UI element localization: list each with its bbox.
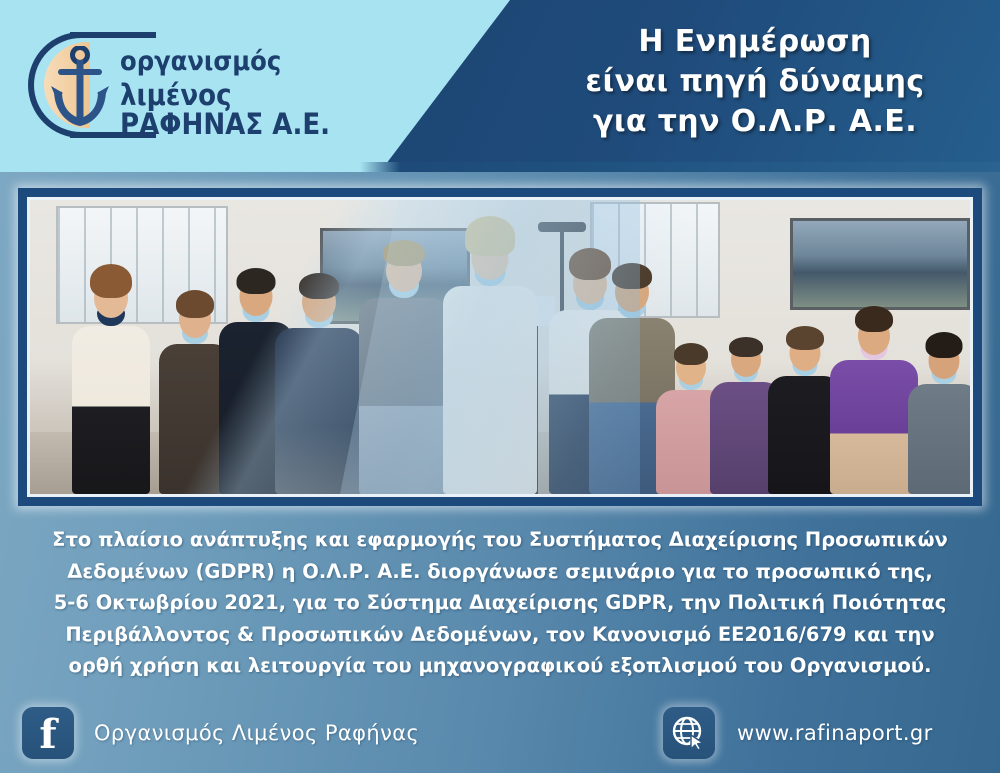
body-line-1: Στο πλαίσιο ανάπτυξης και εφαρμογής του … xyxy=(40,524,960,556)
photo-person xyxy=(906,326,970,494)
body-line-3: 5-6 Οκτωβρίου 2021, για το Σύστημα Διαχε… xyxy=(40,587,960,619)
photo-person xyxy=(440,204,540,494)
photo-person xyxy=(356,212,452,494)
event-photo-frame xyxy=(18,188,982,506)
event-photo-inner-border xyxy=(27,197,973,497)
footer: f Οργανισμός Λιμένος Ραφήνας www.rafinap… xyxy=(0,693,1000,773)
page-title-line-3: για την Ο.Λ.Ρ. Α.Ε. xyxy=(520,102,990,142)
body-line-2: Δεδομένων (GDPR) η Ο.Λ.Ρ. Α.Ε. διοργάνωσ… xyxy=(40,556,960,588)
logo-text-line-1: οργανισμός xyxy=(120,48,354,75)
logo-text-line-2: λιμένος ΡΑΦΗΝΑΣ Α.Ε. xyxy=(120,81,354,139)
header-banner: Η Ενημέρωση είναι πηγή δύναμης για την Ο… xyxy=(0,0,1000,172)
page-title: Η Ενημέρωση είναι πηγή δύναμης για την Ο… xyxy=(520,22,990,142)
facebook-link[interactable]: f Οργανισμός Λιμένος Ραφήνας xyxy=(22,707,419,759)
globe-icon-svg xyxy=(671,715,707,751)
facebook-label: Οργανισμός Λιμένος Ραφήνας xyxy=(94,721,419,745)
anchor-icon xyxy=(48,46,112,132)
event-photo xyxy=(30,200,970,494)
poster-canvas: Η Ενημέρωση είναι πηγή δύναμης για την Ο… xyxy=(0,0,1000,773)
logo-mark xyxy=(24,28,128,144)
body-paragraph: Στο πλαίσιο ανάπτυξης και εφαρμογής του … xyxy=(40,524,960,682)
photo-person xyxy=(68,238,154,494)
globe-cursor-icon[interactable] xyxy=(663,707,715,759)
page-title-line-2: είναι πηγή δύναμης xyxy=(520,62,990,102)
facebook-icon[interactable]: f xyxy=(22,707,74,759)
body-line-5: ορθή χρήση και λειτουργία του μηχανογραφ… xyxy=(40,650,960,682)
page-title-line-1: Η Ενημέρωση xyxy=(520,22,990,62)
logo-bar-top xyxy=(70,32,156,38)
facebook-glyph: f xyxy=(39,715,56,755)
website-link[interactable]: www.rafinaport.gr xyxy=(663,707,933,759)
body-line-4: Περιβάλλοντος & Προσωπικών Δεδομένων, το… xyxy=(40,619,960,651)
logo-text: οργανισμός λιμένος ΡΑΦΗΝΑΣ Α.Ε. xyxy=(120,48,354,139)
organization-logo[interactable]: οργανισμός λιμένος ΡΑΦΗΝΑΣ Α.Ε. xyxy=(24,28,354,144)
header-bottom-band xyxy=(0,162,1000,172)
website-label: www.rafinaport.gr xyxy=(737,721,933,745)
photo-person xyxy=(272,256,366,494)
